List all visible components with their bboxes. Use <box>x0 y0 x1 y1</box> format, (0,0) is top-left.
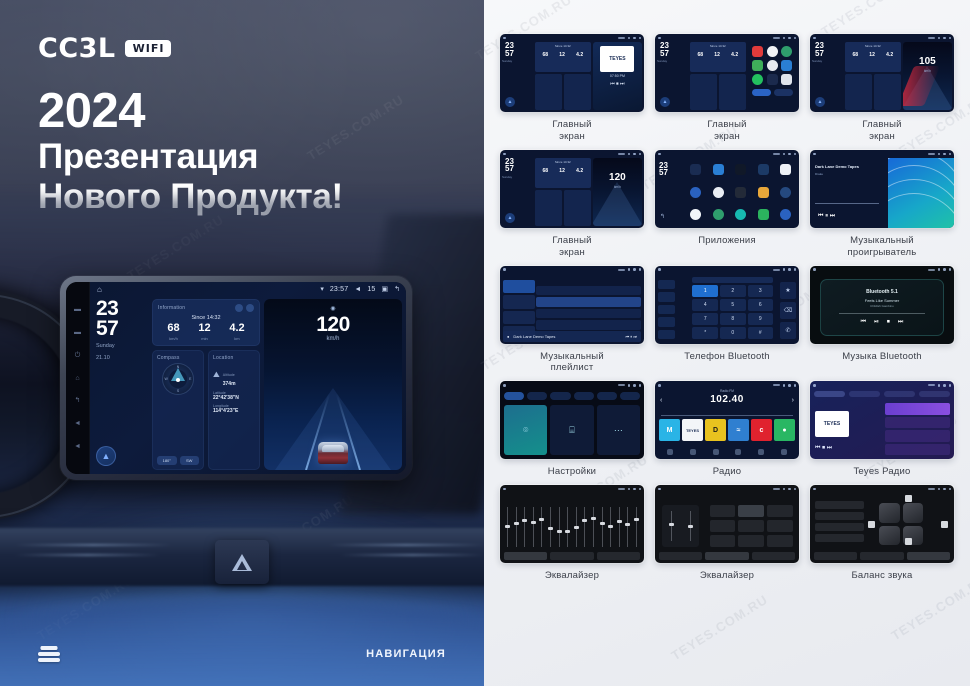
radio-toolbar[interactable] <box>659 447 795 456</box>
home-layout: 23 57 Sunday 21.10 ▲ Infor <box>90 297 406 474</box>
clock-date: 21.10 <box>96 355 148 363</box>
driving-view[interactable]: ◉ 120 km/h <box>264 299 402 470</box>
thumb-status-bar <box>810 485 954 493</box>
clock-hours: 23 <box>96 299 148 319</box>
screen-thumbnail[interactable]: 2357Sunday▲ Since 14:3268124.2 120 km/h <box>500 150 644 228</box>
status-right-cluster: ▾ 23:57 ◄ 15 ▣ ↰ <box>320 286 400 293</box>
tab-balance[interactable] <box>907 552 950 560</box>
preset-row[interactable] <box>815 523 864 531</box>
speed-value: 120 <box>316 314 350 335</box>
tab-system[interactable] <box>574 392 594 400</box>
head-unit: ▬ ▬ ⏻ ⌂ ↰ ◄ ◄ ⌂ ▾ 23:57 <box>60 276 412 480</box>
dial-key[interactable]: 5 <box>720 299 746 311</box>
equalizer-tabs[interactable] <box>504 552 640 560</box>
contacts-tab-icon[interactable] <box>658 292 675 302</box>
next-icon[interactable]: ⏭ <box>898 319 903 326</box>
tab-apps[interactable] <box>597 392 617 400</box>
dial-key[interactable]: 3 <box>748 285 774 297</box>
balance-down-button[interactable] <box>905 538 912 545</box>
dial-key[interactable]: # <box>748 327 774 339</box>
thumbnail-caption: Эквалайзер <box>545 570 599 582</box>
bluetooth-music-card: Bluetooth 5.1 Feels Like Summer Childish… <box>820 279 944 336</box>
thumbnail-caption: Музыка Bluetooth <box>842 351 922 363</box>
volume-down-key[interactable]: ▬ <box>74 306 81 313</box>
seat-rear-left[interactable] <box>879 526 900 546</box>
vent-slat <box>15 544 172 546</box>
gallery-item[interactable]: Эквалайзер <box>655 485 799 582</box>
gallery-item[interactable]: Dark Lane Demo Tapes Drake ⏮ ⏸ ⏭ Музыкал… <box>810 150 954 259</box>
mini-home-layout: 2357Sunday▲ Since 14:3268124.2 TEYES 07:… <box>502 42 642 110</box>
mini-speed-value: 120 <box>593 172 642 183</box>
prev-icon[interactable]: ⏮ <box>861 319 866 326</box>
mini-art: ● <box>507 334 509 339</box>
hardware-key-column[interactable]: ▬ ▬ ⏻ ⌂ ↰ ◄ ◄ <box>66 282 90 474</box>
thumb-status-bar <box>655 34 799 42</box>
settings-tabs[interactable] <box>504 392 640 400</box>
album-art: TEYES <box>600 46 634 72</box>
gallery-item[interactable]: 2357 <box>655 150 799 259</box>
settings-tab-icon[interactable] <box>658 330 675 340</box>
app-icon-calculator[interactable] <box>758 164 769 175</box>
hazard-light-button[interactable] <box>215 540 269 584</box>
hero-footer: НАВИГАЦИЯ <box>0 622 484 686</box>
power-key[interactable]: ⏻ <box>75 352 81 359</box>
waveform-visual <box>888 158 954 228</box>
app-icon-gallery[interactable] <box>780 187 791 198</box>
now-playing-artist: Drake <box>815 172 882 176</box>
headline-year: 2024 <box>38 86 343 137</box>
altitude-label: Altitude <box>223 373 235 377</box>
compass-center-dot <box>176 378 180 382</box>
player-controls[interactable]: ⏮ ⏸ ⏭ <box>818 213 835 220</box>
headline-line-1: Презентация <box>38 137 343 176</box>
teyes-player: TEYES ⏮ ⏹ ⏭ <box>815 407 873 453</box>
screen-thumbnail[interactable]: 2357Sunday▲ Since 14:3268124.2 105 km/h <box>810 34 954 112</box>
app-icon-camera[interactable] <box>780 164 791 175</box>
seat-grid[interactable] <box>879 503 923 545</box>
preset-button[interactable] <box>710 505 736 517</box>
band-icon[interactable] <box>667 449 673 455</box>
list-icon[interactable] <box>713 449 719 455</box>
compass-s: S <box>177 389 179 393</box>
phone-tabs[interactable] <box>658 280 675 340</box>
preset-1[interactable]: M <box>659 419 680 441</box>
altitude-group: Altitude 374m <box>223 363 236 387</box>
screen-thumbnail[interactable]: Radio FM 102.40 ‹ › M TEYES D ≈ c ● <box>655 381 799 459</box>
playlist-now-playing[interactable]: ●Dark Lane Demo Tapes⏮ ⏸ ⏭ <box>503 331 641 342</box>
eq-band[interactable] <box>583 507 586 547</box>
preset-button[interactable] <box>738 520 764 532</box>
preset-sliders[interactable] <box>662 505 699 547</box>
station-art: TEYES <box>815 411 849 437</box>
gallery-item[interactable]: TEYES ⏮ ⏹ ⏭ Teyes Радио <box>810 381 954 478</box>
eq-band[interactable] <box>532 507 535 547</box>
carplay-card[interactable]: ⌸ <box>550 405 593 455</box>
recents-tab-icon[interactable] <box>658 317 675 327</box>
stat-item: 4.2 km <box>229 323 244 341</box>
transport-controls[interactable]: ⏮ ⏸ ⏭ <box>626 334 637 339</box>
bt-track-artist: Childish Gambino <box>870 304 894 308</box>
compass-heading: 180° <box>157 456 177 465</box>
latitude-value: 22°42'38"N <box>213 395 255 401</box>
preset-button[interactable] <box>738 505 764 517</box>
thumbnail-caption: Главныйэкран <box>552 119 591 143</box>
next-station-icon[interactable]: › <box>792 397 794 404</box>
dial-key[interactable]: 4 <box>692 299 718 311</box>
wifi-card[interactable]: ⌾ <box>504 405 547 455</box>
teyes-controls[interactable]: ⏮ ⏹ ⏭ <box>815 445 873 452</box>
app-icon-explorer[interactable] <box>735 187 746 198</box>
thumbnail-caption: Баланс звука <box>852 570 913 582</box>
thumbnail-caption: Главныйэкран <box>707 119 746 143</box>
mountain-icon: ⛰ <box>213 370 220 380</box>
mini-home-layout: 2357Sunday▲ Since 14:3268124.2 105 km/h <box>812 42 952 110</box>
ui-screen: ⌂ ▾ 23:57 ◄ 15 ▣ ↰ <box>90 282 406 474</box>
prev-station-icon[interactable]: ‹ <box>660 397 662 404</box>
dialpad-tab-icon[interactable] <box>658 280 675 290</box>
eq-icon[interactable] <box>735 449 741 455</box>
call-icon[interactable]: ✆ <box>780 322 796 339</box>
app-icon-google[interactable] <box>690 209 701 220</box>
layers-icon[interactable] <box>38 646 60 662</box>
longitude-row: Longitude 114°4'23"E <box>213 404 255 414</box>
expand-icon[interactable] <box>246 304 254 312</box>
number-field[interactable] <box>692 277 773 283</box>
preset-button[interactable] <box>767 505 793 517</box>
eq-band[interactable] <box>558 507 561 547</box>
eq-band[interactable] <box>609 507 612 547</box>
tab-balance[interactable] <box>597 552 640 560</box>
bt-progress-bar[interactable] <box>839 313 924 314</box>
longitude-value: 114°4'23"E <box>213 408 255 414</box>
stat-unit: km/h <box>167 336 179 341</box>
dial-key[interactable]: 2 <box>720 285 746 297</box>
stat-value: 12 <box>198 323 210 334</box>
back-key[interactable]: ↰ <box>75 397 81 404</box>
eq-band[interactable] <box>618 507 621 547</box>
gallery-item[interactable]: 123 456 789 *0# ★⌫✆ Телефон Bluetooth <box>655 266 799 375</box>
preset-3[interactable]: D <box>705 419 726 441</box>
gallery-item[interactable]: 2357Sunday▲ Since 14:3268124.2 TEYES 07:… <box>500 34 644 143</box>
thumb-status-bar <box>810 381 954 389</box>
gallery-item[interactable]: Radio FM 102.40 ‹ › M TEYES D ≈ c ● Р <box>655 381 799 478</box>
preset-button[interactable] <box>767 535 793 547</box>
compass-cardinal: SW <box>180 456 200 465</box>
balance-left-button[interactable] <box>868 521 875 528</box>
app-grid[interactable] <box>687 160 795 225</box>
preset-tiles[interactable]: M TEYES D ≈ c ● <box>659 419 795 441</box>
app-icon-radio[interactable] <box>780 209 791 220</box>
bt-controls[interactable]: ⏮⏯⏹⏭ <box>861 319 904 326</box>
bluetooth-version: Bluetooth 5.1 <box>866 289 898 295</box>
gallery-item[interactable]: 2357Sunday▲ Since 14:3268124.2 120 km/h … <box>500 150 644 259</box>
thumb-status-bar <box>500 485 644 493</box>
mute-key[interactable]: ◄ <box>74 420 81 427</box>
eq-band[interactable] <box>635 507 638 547</box>
apps-clock: 2357 <box>659 162 668 177</box>
compass-dial: N E S W <box>162 363 194 395</box>
backspace-icon[interactable]: ⌫ <box>780 302 796 319</box>
tab-eq[interactable] <box>814 552 857 560</box>
gallery-item[interactable]: 2357Sunday▲ Since 14:3268124.2 Главный <box>655 34 799 143</box>
slider[interactable] <box>689 511 692 540</box>
apps-icon[interactable] <box>781 449 787 455</box>
clock-widget[interactable]: 23 57 Sunday 21.10 <box>96 299 148 362</box>
screen-thumbnail[interactable] <box>655 485 799 563</box>
eq-band[interactable] <box>566 507 569 547</box>
home-key[interactable]: ⌂ <box>75 375 79 382</box>
compass-card[interactable]: Compass N E S W <box>152 350 204 470</box>
screen-thumbnail[interactable]: 123 456 789 *0# ★⌫✆ <box>655 266 799 344</box>
eq-band[interactable] <box>549 507 552 547</box>
car-rear-window <box>322 445 344 452</box>
latitude-row: Latitude 22°42'38"N <box>213 391 255 401</box>
dial-key[interactable]: 0 <box>720 327 746 339</box>
app-icon-car[interactable] <box>690 164 701 175</box>
progress-bar[interactable] <box>815 203 879 204</box>
screen-thumbnail[interactable]: Bluetooth 5.1 Feels Like Summer Childish… <box>810 266 954 344</box>
preset-buttons[interactable] <box>710 505 793 547</box>
seat-front-left[interactable] <box>879 503 900 523</box>
apps-icon[interactable]: ▣ <box>382 286 389 293</box>
clock-column: 23 57 Sunday 21.10 ▲ <box>96 299 148 470</box>
watermark: TEYES.COM.RU <box>888 572 970 644</box>
thumbnail-caption: Настройки <box>548 466 596 478</box>
preset-5[interactable]: c <box>751 419 772 441</box>
screen-thumbnail[interactable]: ⌾ ⌸ ⋯ <box>500 381 644 459</box>
stat-item: 12 min <box>198 323 210 341</box>
screen-thumbnail[interactable]: ●Dark Lane Demo Tapes⏮ ⏸ ⏭ <box>500 266 644 344</box>
vent-slat <box>340 554 484 556</box>
gallery-item[interactable]: Bluetooth 5.1 Feels Like Summer Childish… <box>810 266 954 375</box>
preset-6[interactable]: ● <box>774 419 795 441</box>
eq-band[interactable] <box>626 507 629 547</box>
stat-unit: min <box>198 336 210 341</box>
dial-key[interactable]: 7 <box>692 313 718 325</box>
station-list[interactable] <box>885 403 950 455</box>
app-icon-music[interactable] <box>735 164 746 175</box>
track-name: Dark Lane Demo Tapes <box>513 334 555 339</box>
dial-key[interactable]: 8 <box>720 313 746 325</box>
wifi-badge: WIFI <box>125 40 172 57</box>
lower-widgets: Compass N E S W <box>152 350 260 470</box>
app-icon-folder[interactable] <box>758 187 769 198</box>
clock-minutes: 57 <box>96 319 148 339</box>
thumbnail-caption: Teyes Радио <box>853 466 910 478</box>
compass-title: Compass <box>157 355 199 361</box>
brand-logo: CC3L WIFI <box>38 33 171 64</box>
back-icon[interactable]: ↰ <box>394 286 400 293</box>
altitude-row: ⛰ Altitude 374m <box>213 363 255 387</box>
screen-thumbnail[interactable]: 2357Sunday▲ Since 14:3268124.2 TEYES 07:… <box>500 34 644 112</box>
trip-stats: 68 km/h 12 min 4.2 <box>158 323 254 341</box>
preset-row[interactable] <box>815 534 864 542</box>
tab-balance[interactable] <box>752 552 795 560</box>
preset-2[interactable]: TEYES <box>682 419 703 441</box>
status-bar: ⌂ ▾ 23:57 ◄ 15 ▣ ↰ <box>90 282 406 297</box>
equalizer-tabs[interactable] <box>814 552 950 560</box>
gallery-item[interactable]: ⌾ ⌸ ⋯ Настройки <box>500 381 644 478</box>
hero-panel: TEYES.COM.RU TEYES.COM.RU TEYES.COM.RU T… <box>0 0 484 686</box>
location-card[interactable]: Location ⛰ Altitude 374m <box>208 350 260 470</box>
road-view <box>593 158 642 226</box>
preset-row[interactable] <box>815 501 864 509</box>
gallery-grid: 2357Sunday▲ Since 14:3268124.2 TEYES 07:… <box>500 34 954 582</box>
screen-thumbnail[interactable]: 2357 <box>655 150 799 228</box>
stat-value: 68 <box>167 323 179 334</box>
slider[interactable] <box>670 511 673 540</box>
volume-up-key[interactable]: ▬ <box>74 329 81 336</box>
search-tab-icon[interactable] <box>658 305 675 315</box>
dial-key[interactable]: * <box>692 327 718 339</box>
thumb-status-bar <box>655 266 799 274</box>
app-icon-play-store[interactable] <box>758 209 769 220</box>
hazard-triangle-icon <box>232 554 252 571</box>
footer-label: НАВИГАЦИЯ <box>366 648 446 660</box>
dial-pad[interactable]: 123 456 789 *0# <box>692 285 773 339</box>
preset-row[interactable] <box>815 512 864 520</box>
gallery-item[interactable]: Баланс звука <box>810 485 954 582</box>
radio-frequency: 102.40 <box>655 394 799 405</box>
mini-speed-unit: km/h <box>903 69 952 73</box>
thumbnail-caption: Приложения <box>698 235 756 247</box>
information-title: Information <box>158 305 185 311</box>
tab-sound-field[interactable] <box>860 552 903 560</box>
thumb-status-bar <box>655 381 799 389</box>
thumb-status-bar <box>500 266 644 274</box>
eq-band[interactable] <box>601 507 604 547</box>
scan-icon[interactable] <box>690 449 696 455</box>
app-icon-clock[interactable] <box>713 187 724 198</box>
volume-icon[interactable]: ◄ <box>354 286 361 293</box>
home-icon[interactable]: ⌂ <box>97 285 102 294</box>
balance-up-button[interactable] <box>905 495 912 502</box>
screen-thumbnail[interactable] <box>500 485 644 563</box>
vent-slat <box>328 544 484 546</box>
thumb-status-bar <box>810 150 954 158</box>
tab-about[interactable] <box>620 392 640 400</box>
app-icon-chrome[interactable] <box>690 187 701 198</box>
thumbnail-caption: Телефон Bluetooth <box>684 351 770 363</box>
settings-cards[interactable]: ⌾ ⌸ ⋯ <box>504 405 640 455</box>
widget-column: Information Since 14:32 <box>152 299 260 470</box>
screen-thumbnail[interactable]: TEYES ⏮ ⏹ ⏭ <box>810 381 954 459</box>
eq-band[interactable] <box>523 507 526 547</box>
tab-eq[interactable] <box>659 552 702 560</box>
preset-button[interactable] <box>767 520 793 532</box>
speed-unit: km/h <box>326 336 339 342</box>
seat-front-right[interactable] <box>903 503 924 523</box>
eq-band[interactable] <box>515 507 518 547</box>
eq-band[interactable] <box>540 507 543 547</box>
mini-home-layout: 2357Sunday▲ Since 14:3268124.2 120 km/h <box>502 158 642 226</box>
tab-eq[interactable] <box>504 552 547 560</box>
dial-key[interactable]: 1 <box>692 285 718 297</box>
vent-slat <box>15 554 161 556</box>
clock-day: Sunday <box>96 343 148 351</box>
tab-wifi[interactable] <box>504 392 524 400</box>
thumb-status-bar <box>810 266 954 274</box>
now-playing-title: Dark Lane Demo Tapes <box>815 164 882 169</box>
screen-thumbnail[interactable]: Dark Lane Demo Tapes Drake ⏮ ⏸ ⏭ <box>810 150 954 228</box>
trip-since: Since 14:32 <box>158 315 254 321</box>
screen-thumbnail[interactable]: 2357Sunday▲ Since 14:3268124.2 <box>655 34 799 112</box>
thumb-status-bar <box>500 381 644 389</box>
altitude-value: 374m <box>223 381 236 387</box>
tab-sound-field[interactable] <box>550 552 593 560</box>
information-actions[interactable] <box>235 304 254 312</box>
head-unit-screen: ▬ ▬ ⏻ ⌂ ↰ ◄ ◄ ⌂ ▾ 23:57 <box>66 282 406 474</box>
compass-e: E <box>189 377 191 381</box>
stop-icon[interactable]: ⏹ <box>887 319 890 326</box>
app-icon-music-player[interactable] <box>735 209 746 220</box>
screen-thumbnail[interactable] <box>810 485 954 563</box>
teyes-tab-row[interactable] <box>814 391 950 397</box>
thumb-status-bar <box>810 34 954 42</box>
mini-speed-unit: km/h <box>593 185 642 189</box>
presentation-slide: TEYES.COM.RU TEYES.COM.RU TEYES.COM.RU T… <box>0 0 970 686</box>
tab-sound-field[interactable] <box>705 552 748 560</box>
stat-value: 4.2 <box>229 323 244 334</box>
gallery-item[interactable]: Эквалайзер <box>500 485 644 582</box>
thumb-status-bar <box>655 485 799 493</box>
information-card[interactable]: Information Since 14:32 <box>152 299 260 346</box>
phone-actions[interactable]: ★⌫✆ <box>780 282 796 339</box>
headline: 2024 Презентация Нового Продукта! <box>38 86 343 216</box>
settings-icon[interactable] <box>758 449 764 455</box>
tab-display[interactable] <box>550 392 570 400</box>
play-pause-icon[interactable]: ⏯ <box>874 319 879 326</box>
location-title: Location <box>213 355 255 361</box>
watermark: TEYES.COM.RU <box>668 592 770 664</box>
eq-band[interactable] <box>575 507 578 547</box>
app-icon-maps[interactable] <box>713 209 724 220</box>
eq-band[interactable] <box>592 507 595 547</box>
balance-presets[interactable] <box>815 501 864 542</box>
mic-key[interactable]: ◄ <box>74 443 81 450</box>
thumb-status-bar <box>500 34 644 42</box>
preset-button[interactable] <box>738 535 764 547</box>
back-icon[interactable]: ↰ <box>660 213 665 220</box>
tab-sound[interactable] <box>527 392 547 400</box>
mini-home-layout: 2357Sunday▲ Since 14:3268124.2 <box>657 42 797 110</box>
navigation-arrow-icon[interactable]: ▲ <box>96 446 116 466</box>
refresh-icon[interactable] <box>235 304 243 312</box>
dial-key[interactable]: 6 <box>748 299 774 311</box>
dial-key[interactable]: 9 <box>748 313 774 325</box>
tuning-scale[interactable] <box>661 412 793 416</box>
wifi-icon: ▾ <box>320 286 324 293</box>
more-card[interactable]: ⋯ <box>597 405 640 455</box>
playlist-rows[interactable] <box>536 286 641 330</box>
balance-right-button[interactable] <box>941 521 948 528</box>
star-icon[interactable]: ★ <box>780 282 796 299</box>
app-icon-bluetooth[interactable] <box>713 164 724 175</box>
equalizer-tabs[interactable] <box>659 552 795 560</box>
thumbnail-caption: Главныйэкран <box>552 235 591 259</box>
preset-4[interactable]: ≈ <box>728 419 749 441</box>
preset-button[interactable] <box>710 520 736 532</box>
compass-n: N <box>177 365 180 369</box>
thumb-status-bar <box>500 150 644 158</box>
equalizer-bands[interactable] <box>506 507 638 547</box>
gallery-item[interactable]: 2357Sunday▲ Since 14:3268124.2 105 km/h … <box>810 34 954 143</box>
gallery-item[interactable]: ●Dark Lane Demo Tapes⏮ ⏸ ⏭ Музыкальныйпл… <box>500 266 644 375</box>
eq-band[interactable] <box>506 507 509 547</box>
preset-button[interactable] <box>710 535 736 547</box>
compass-w: W <box>165 377 168 381</box>
thumbnail-caption: Музыкальныйпроигрыватель <box>848 235 917 259</box>
